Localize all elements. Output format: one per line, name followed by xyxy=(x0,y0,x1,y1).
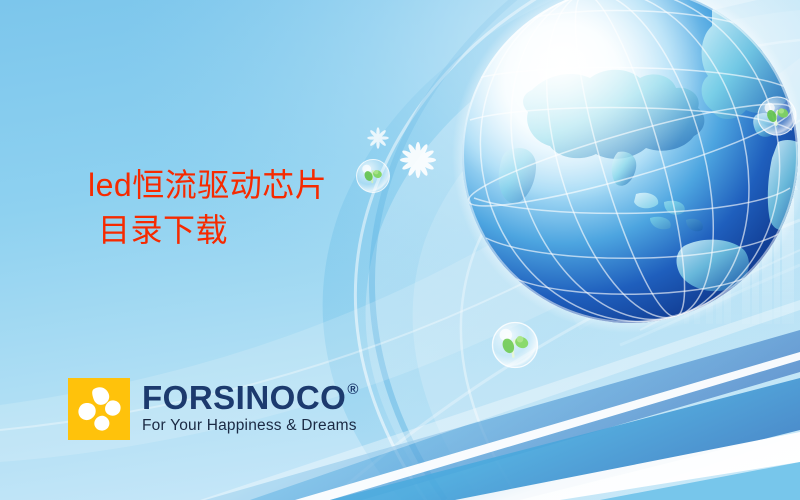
brand-name-text: FORSINOCO xyxy=(142,381,346,414)
headline-line-2: 目录下载 xyxy=(78,208,408,253)
logo-wordmark: FORSINOCO ® For Your Happiness & Dreams xyxy=(142,378,359,434)
headline-line-1: led恒流驱动芯片 xyxy=(78,163,408,208)
bubble-sprout-icon xyxy=(755,94,799,138)
brand-name: FORSINOCO ® xyxy=(142,381,359,414)
brand-tagline: For Your Happiness & Dreams xyxy=(142,417,359,434)
bubble-sprout-icon xyxy=(490,320,540,370)
flower-burst-icon xyxy=(366,126,390,150)
four-petal-flower-icon xyxy=(68,378,130,440)
slide-canvas: led恒流驱动芯片 目录下载 FORSINOCO ® For Your Happ… xyxy=(0,0,800,500)
globe-icon xyxy=(440,0,800,350)
headline-text: led恒流驱动芯片 目录下载 xyxy=(78,163,408,254)
registered-trademark-icon: ® xyxy=(347,382,359,397)
company-logo: FORSINOCO ® For Your Happiness & Dreams xyxy=(68,378,359,440)
